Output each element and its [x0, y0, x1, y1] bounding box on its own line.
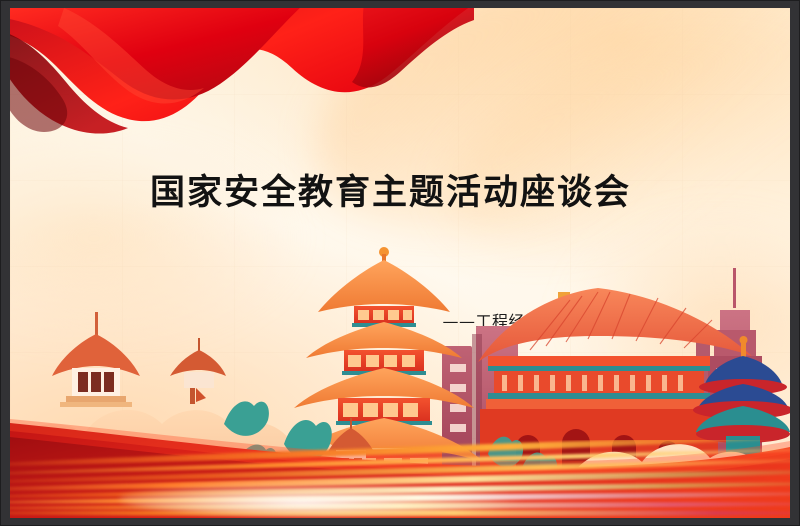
- red-flag-graphic: [10, 8, 474, 164]
- slide-frame: 国家安全教育主题活动座谈会 ——工程经济学院学生第二党支部: [0, 0, 800, 526]
- slide-canvas: 国家安全教育主题活动座谈会 ——工程经济学院学生第二党支部: [10, 8, 790, 518]
- page-title: 国家安全教育主题活动座谈会: [150, 172, 670, 216]
- center-glow: [119, 482, 525, 516]
- light-streaks-graphic: [10, 440, 790, 518]
